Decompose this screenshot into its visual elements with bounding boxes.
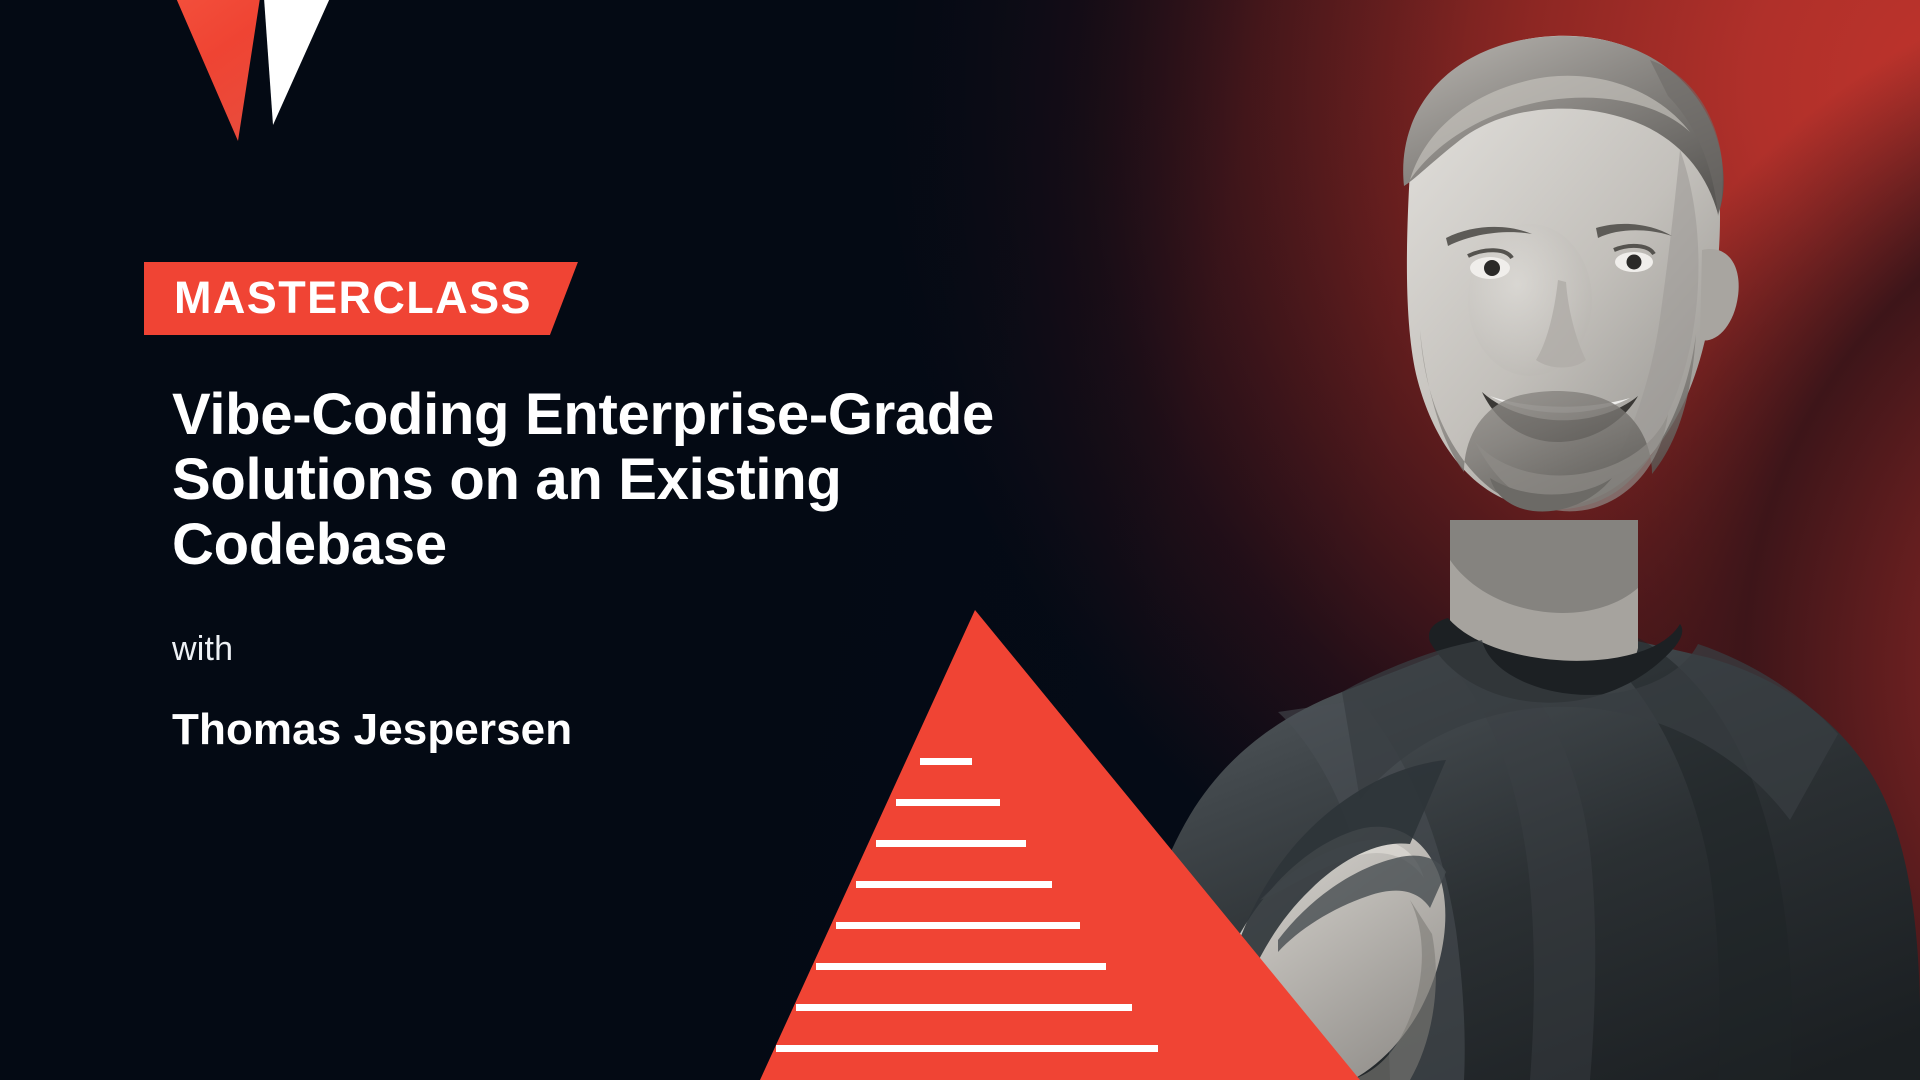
presenter-name: Thomas Jespersen [172, 708, 1092, 752]
page-title: Vibe-Coding Enterprise-Grade Solutions o… [172, 383, 1002, 578]
masterclass-badge-label: MASTERCLASS [174, 275, 532, 320]
masterclass-badge: MASTERCLASS [144, 262, 578, 335]
title-line-2: Solutions on an Existing [172, 448, 1002, 513]
v-chevron-logo-icon [148, 0, 380, 170]
masterclass-banner: MASTERCLASS Vibe-Coding Enterprise-Grade… [0, 0, 1920, 1080]
title-line-3: Codebase [172, 513, 1002, 578]
title-line-1: Vibe-Coding Enterprise-Grade [172, 383, 1002, 448]
banner-content: MASTERCLASS Vibe-Coding Enterprise-Grade… [172, 262, 1092, 752]
presenter-with-label: with [172, 632, 1092, 666]
